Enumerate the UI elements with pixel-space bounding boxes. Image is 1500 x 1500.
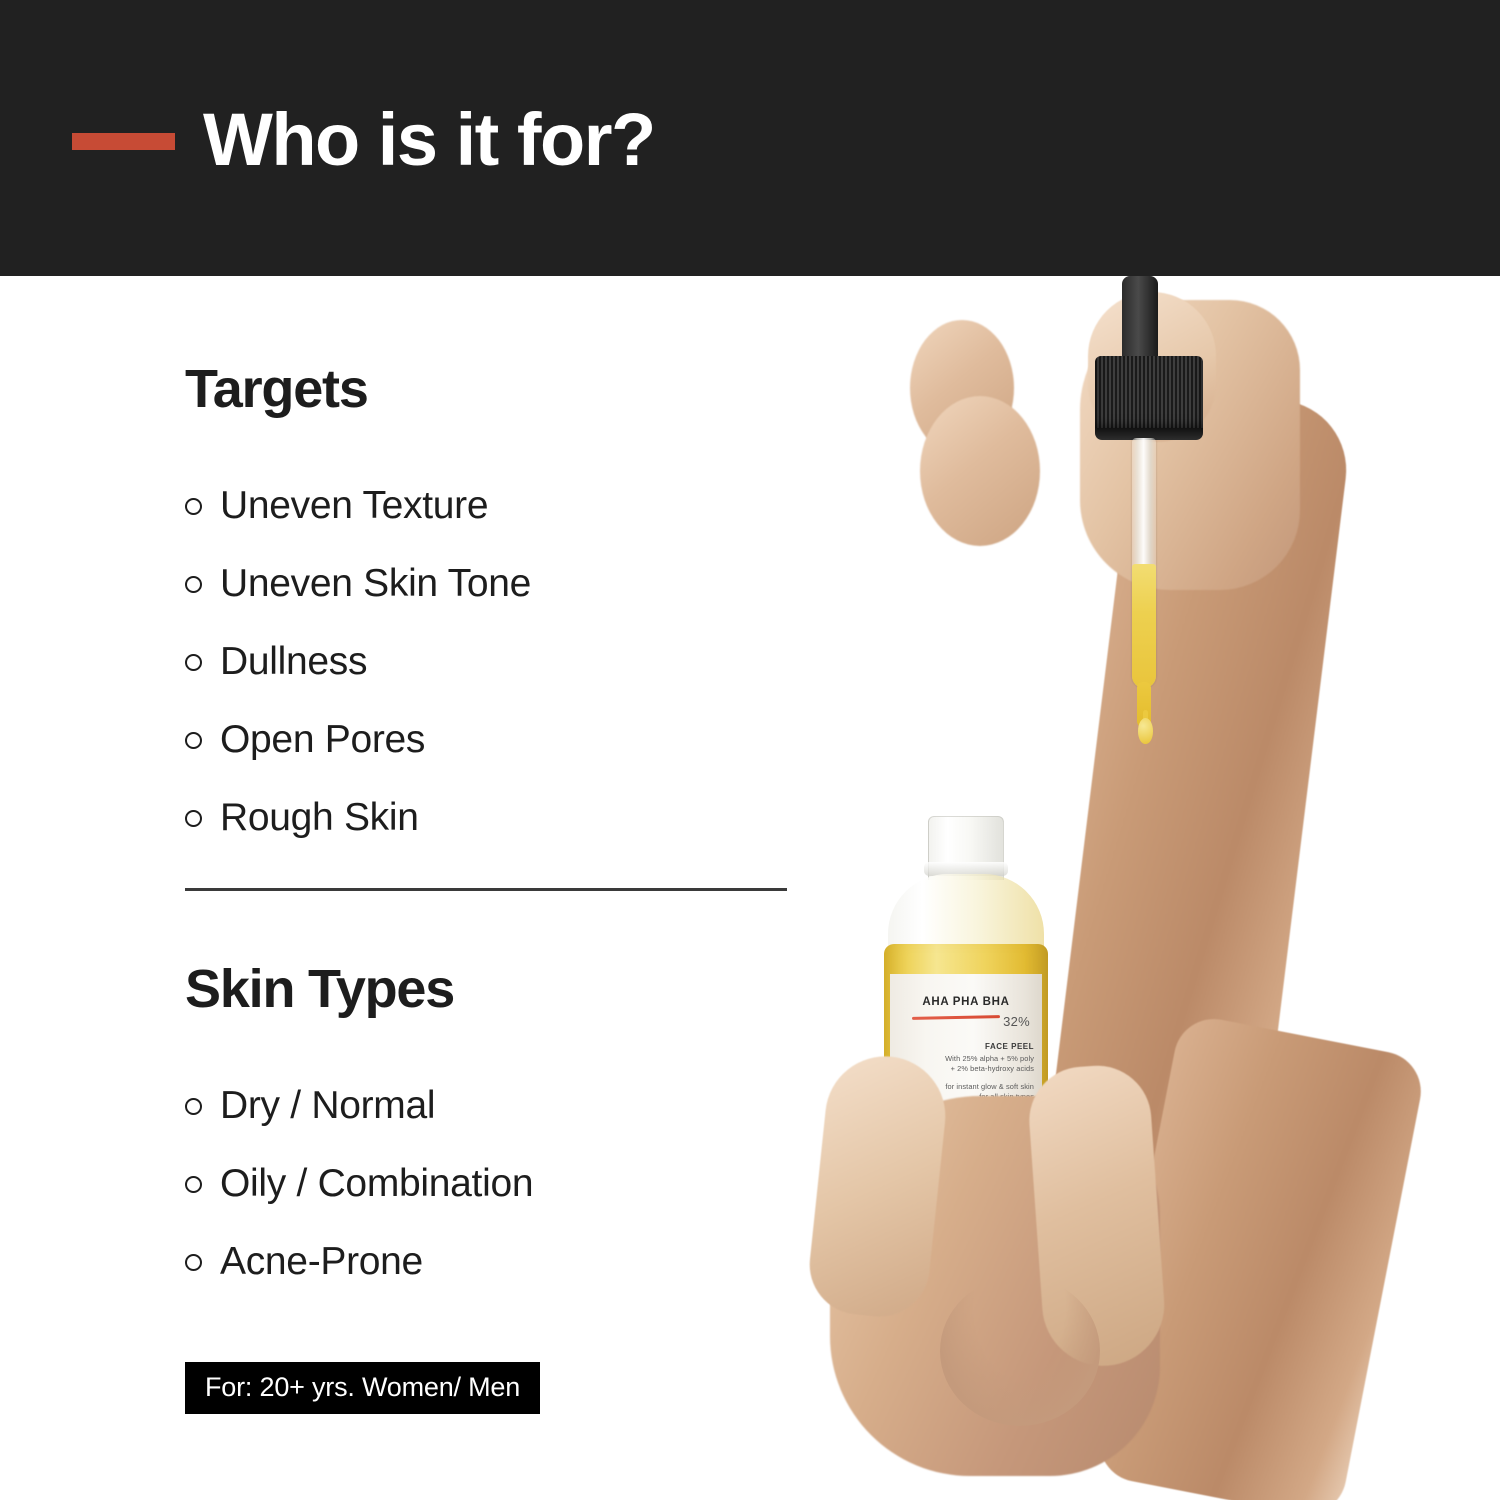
circle-bullet-icon <box>185 1176 202 1193</box>
list-item: Oily / Combination <box>185 1144 533 1222</box>
hand-holding-dropper <box>910 286 1240 616</box>
pipette-serum <box>1132 564 1156 688</box>
list-item: Dullness <box>185 622 531 700</box>
product-photo: AHA PHA BHA 32% FACE PEEL With 25% alpha… <box>760 276 1500 1500</box>
list-item-label: Rough Skin <box>220 798 419 837</box>
list-item-label: Acne-Prone <box>220 1242 423 1281</box>
list-item-label: Dry / Normal <box>220 1086 435 1125</box>
finger <box>920 396 1040 546</box>
label-percent: 32% <box>890 1014 1030 1029</box>
section-heading-skin-types: Skin Types <box>185 962 454 1016</box>
audience-badge: For: 20+ yrs. Women/ Men <box>185 1362 540 1414</box>
list-item: Uneven Skin Tone <box>185 544 531 622</box>
accent-bar <box>72 133 175 150</box>
list-item: Uneven Texture <box>185 466 531 544</box>
content-column: Targets Uneven Texture Uneven Skin Tone … <box>0 276 840 1500</box>
label-product-name: AHA PHA BHA <box>890 996 1042 1008</box>
circle-bullet-icon <box>185 498 202 515</box>
circle-bullet-icon <box>185 810 202 827</box>
list-item-label: Dullness <box>220 642 367 681</box>
hand-webbing <box>940 1276 1100 1426</box>
list-item: Rough Skin <box>185 778 531 856</box>
dropper-stem <box>1122 276 1158 368</box>
list-item: Dry / Normal <box>185 1066 533 1144</box>
circle-bullet-icon <box>185 732 202 749</box>
list-item-label: Open Pores <box>220 720 425 759</box>
circle-bullet-icon <box>185 1254 202 1271</box>
targets-list: Uneven Texture Uneven Skin Tone Dullness… <box>185 466 531 856</box>
list-item-label: Oily / Combination <box>220 1164 533 1203</box>
list-item: Open Pores <box>185 700 531 778</box>
skin-types-list: Dry / Normal Oily / Combination Acne-Pro… <box>185 1066 533 1300</box>
circle-bullet-icon <box>185 576 202 593</box>
list-item-label: Uneven Texture <box>220 486 488 525</box>
section-divider <box>185 888 787 891</box>
serum-droplet-icon <box>1138 718 1153 744</box>
circle-bullet-icon <box>185 1098 202 1115</box>
section-heading-targets: Targets <box>185 362 368 416</box>
dropper-cap <box>1095 356 1203 434</box>
hand-holding-bottle <box>800 1036 1230 1486</box>
header-band: Who is it for? <box>0 0 1500 276</box>
list-item-label: Uneven Skin Tone <box>220 564 531 603</box>
list-item: Acne-Prone <box>185 1222 533 1300</box>
page-title: Who is it for? <box>203 103 655 177</box>
circle-bullet-icon <box>185 654 202 671</box>
